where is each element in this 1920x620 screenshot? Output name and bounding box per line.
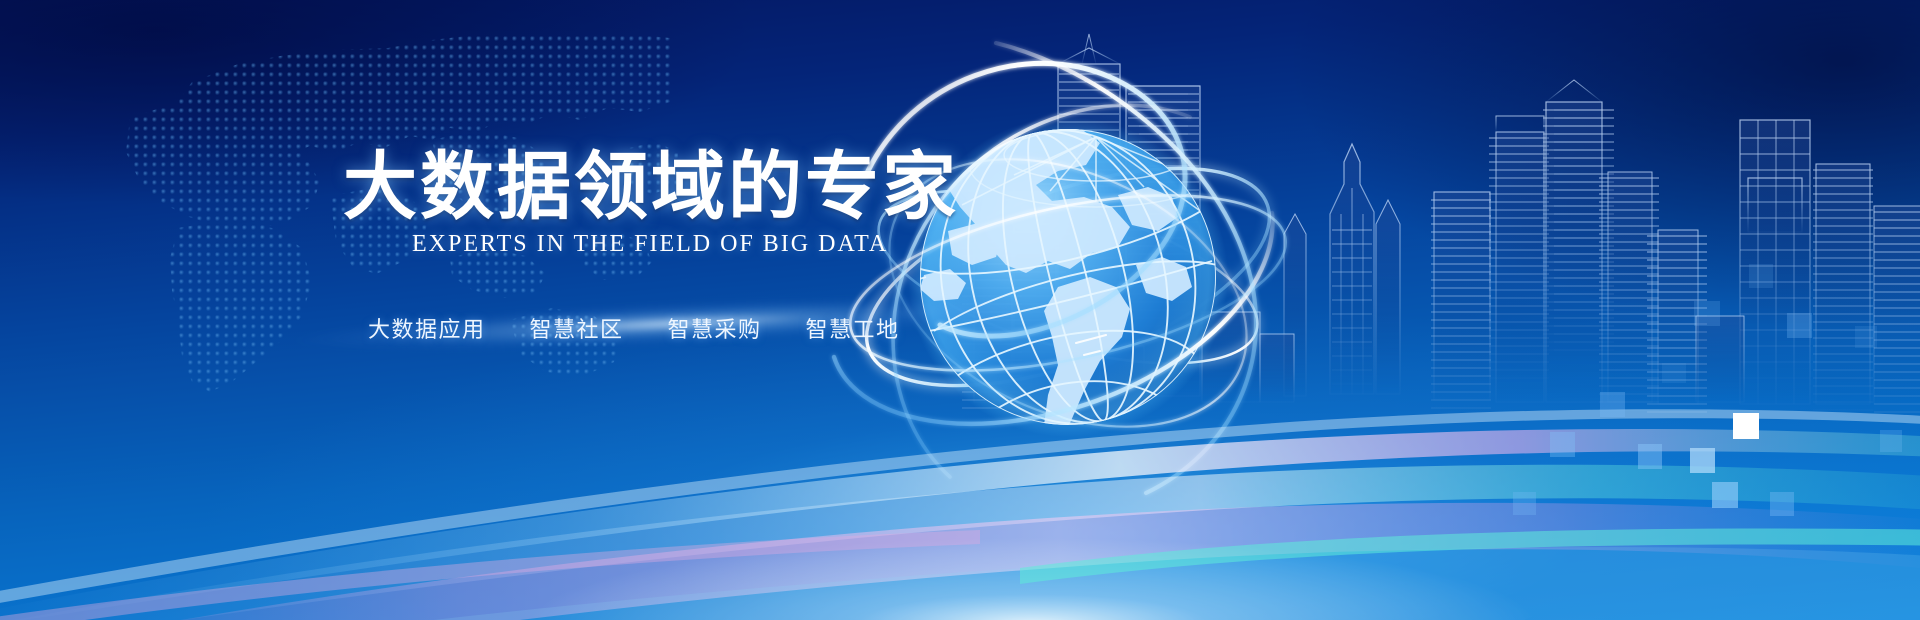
- tag-item-big-data-application[interactable]: 大数据应用: [368, 312, 486, 344]
- city-skyline-icon: [940, 0, 1920, 414]
- square: [1880, 430, 1902, 452]
- hero-banner: 大数据领域的专家 EXPERTS IN THE FIELD OF BIG DAT…: [0, 0, 1920, 620]
- continents-shape: [920, 111, 1192, 443]
- page-subtitle: EXPERTS IN THE FIELD OF BIG DATA: [412, 231, 888, 258]
- square: [1749, 264, 1773, 288]
- square: [1787, 313, 1812, 338]
- square: [1694, 301, 1720, 326]
- square: [1550, 432, 1575, 457]
- tag-item-smart-community[interactable]: 智慧社区: [530, 312, 624, 344]
- banner-text-block: 大数据领域的专家 EXPERTS IN THE FIELD OF BIG DAT…: [0, 0, 920, 620]
- square: [1733, 413, 1759, 439]
- square: [1600, 392, 1625, 417]
- square: [1770, 492, 1794, 516]
- square: [1638, 444, 1662, 469]
- square: [1855, 326, 1877, 348]
- square: [1712, 482, 1738, 508]
- tag-item-smart-construction-site[interactable]: 智慧工地: [806, 312, 900, 344]
- tag-item-smart-procurement[interactable]: 智慧采购: [668, 312, 762, 344]
- tag-list: 大数据应用 智慧社区 智慧采购 智慧工地: [368, 312, 900, 344]
- square: [1513, 492, 1536, 515]
- page-title: 大数据领域的专家: [343, 150, 959, 224]
- square: [1690, 448, 1715, 473]
- square: [1662, 363, 1686, 383]
